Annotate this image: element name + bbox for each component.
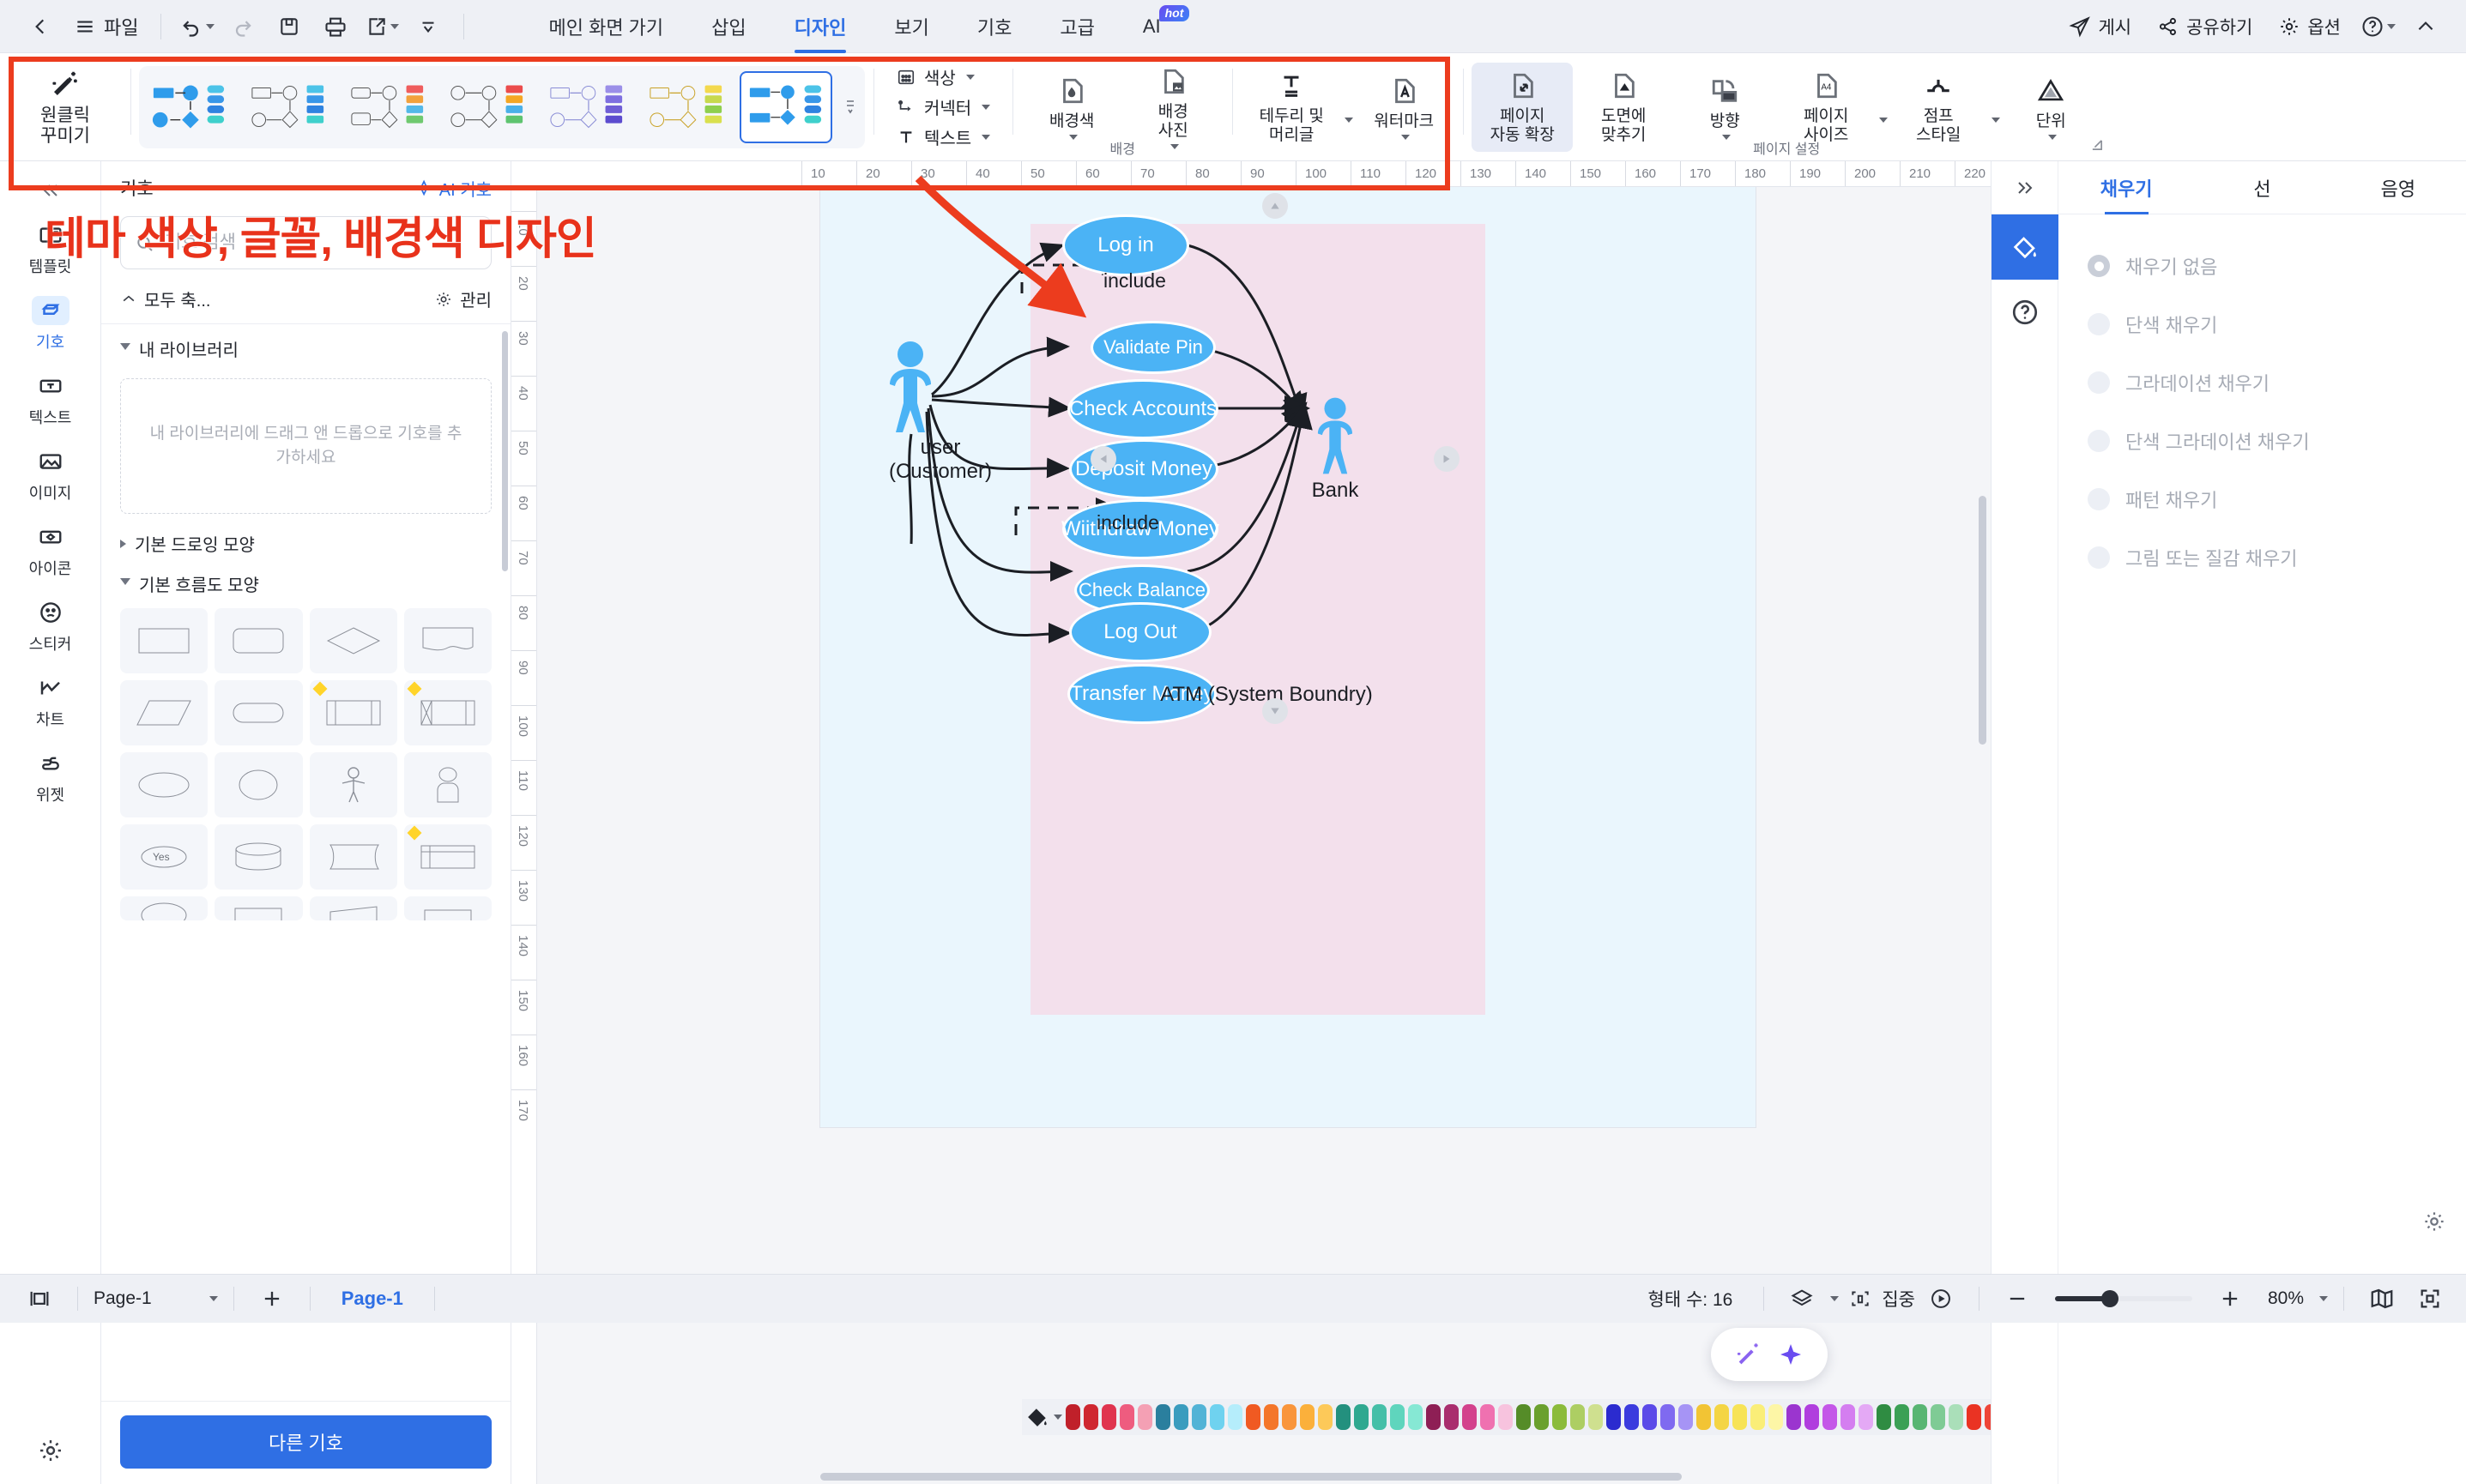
fill-option-label: 채우기 없음 bbox=[2125, 252, 2217, 280]
ruler-tick bbox=[1845, 161, 1846, 187]
shape-tape[interactable] bbox=[310, 824, 397, 890]
color-swatch-11[interactable] bbox=[1264, 1404, 1278, 1430]
header-footer-icon bbox=[1277, 69, 1306, 103]
ruler-tick bbox=[511, 650, 537, 651]
shape-person[interactable] bbox=[404, 752, 492, 817]
symbol-icon bbox=[32, 296, 70, 325]
layers-dropdown-caret[interactable] bbox=[1830, 1296, 1839, 1301]
page-setup-group-label: 페이지 설정 bbox=[1463, 137, 2110, 158]
fill-option-label: 단색 채우기 bbox=[2125, 311, 2217, 338]
tab-advanced[interactable]: 고급 bbox=[1036, 0, 1118, 53]
tab-ai[interactable]: AI hot bbox=[1119, 0, 1185, 53]
ribbon-group-style: 색상 커넥터 텍스트 bbox=[873, 53, 1012, 160]
more-icon[interactable] bbox=[407, 8, 450, 45]
canvas-hscrollbar[interactable] bbox=[820, 1473, 1682, 1481]
zoom-slider-knob[interactable] bbox=[2101, 1290, 2118, 1307]
color-swatch-6[interactable] bbox=[1174, 1404, 1188, 1430]
image-icon bbox=[32, 447, 70, 476]
color-swatch-13[interactable] bbox=[1300, 1404, 1315, 1430]
other-symbols-button[interactable]: 다른 기호 bbox=[120, 1415, 492, 1469]
theme-preview-2[interactable] bbox=[242, 71, 335, 143]
shape-database[interactable] bbox=[215, 824, 302, 890]
sidebar-item-label: 이미지 bbox=[29, 481, 72, 504]
ruler-tick-label: 70 bbox=[516, 551, 530, 565]
nav-right-icon[interactable] bbox=[1434, 446, 1460, 472]
color-swatches bbox=[1066, 1404, 1991, 1430]
sidebar-item-icons[interactable]: 아이콘 bbox=[11, 513, 90, 586]
shape-partial-3[interactable] bbox=[310, 896, 397, 920]
horizontal-ruler[interactable]: 1020304050607080901001101201301401501601… bbox=[511, 161, 1991, 187]
theme-preview-4[interactable] bbox=[441, 71, 534, 143]
ruler-tick-label: 210 bbox=[1909, 166, 1931, 181]
color-swatch-39[interactable] bbox=[1768, 1404, 1783, 1430]
ruler-tick bbox=[511, 540, 537, 541]
design-ribbon: 원클릭 꾸미기 bbox=[0, 53, 2466, 161]
zoom-dropdown-caret[interactable] bbox=[2319, 1296, 2328, 1301]
sidebar-item-symbols[interactable]: 기호 bbox=[11, 287, 90, 359]
magic-wand-icon bbox=[1734, 1340, 1763, 1369]
hot-badge: hot bbox=[1159, 5, 1190, 21]
usecase-log-in[interactable]: Log in bbox=[1062, 214, 1189, 276]
section-header[interactable]: 내 라이브러리 bbox=[120, 336, 492, 361]
dialog-launcher-icon[interactable] bbox=[2089, 137, 2105, 157]
unit-label: 단위 bbox=[2036, 112, 2066, 131]
connector-button[interactable]: 커넥터 bbox=[889, 94, 997, 121]
ai-symbol-button[interactable]: AI 기호 bbox=[415, 176, 492, 201]
export-icon[interactable] bbox=[360, 8, 403, 45]
divider bbox=[2343, 1287, 2344, 1311]
border-header-dropdown-caret[interactable] bbox=[1345, 118, 1353, 123]
radio-icon[interactable] bbox=[2088, 313, 2110, 335]
zoom-in-button[interactable] bbox=[2208, 1287, 2252, 1311]
color-swatch-14[interactable] bbox=[1318, 1404, 1333, 1430]
unit-icon bbox=[2036, 74, 2065, 108]
color-swatch-50[interactable] bbox=[1967, 1404, 1981, 1430]
section-basic-drawing: 기본 드로잉 모양 bbox=[101, 519, 511, 559]
text-icon bbox=[896, 128, 916, 147]
theme-preview-5[interactable] bbox=[541, 71, 633, 143]
shape-rounded-rectangle[interactable] bbox=[215, 608, 302, 673]
theme-preview-1[interactable] bbox=[142, 71, 235, 143]
color-swatch-3[interactable] bbox=[1120, 1404, 1134, 1430]
watermark-label: 워터마크 bbox=[1374, 112, 1434, 131]
theme-preview-6[interactable] bbox=[640, 71, 733, 143]
sidebar-item-label: 위젯 bbox=[36, 783, 64, 805]
sidebar-item-label: 아이콘 bbox=[29, 557, 72, 579]
zoom-value: 80% bbox=[2256, 1288, 2304, 1309]
color-swatch-8[interactable] bbox=[1210, 1404, 1224, 1430]
ruler-tick bbox=[511, 815, 537, 816]
color-swatch-40[interactable] bbox=[1786, 1404, 1801, 1430]
shape-predefined-process[interactable] bbox=[310, 680, 397, 745]
color-swatch-38[interactable] bbox=[1750, 1404, 1765, 1430]
include-label-2: include bbox=[1097, 511, 1159, 534]
collapse-right-icon[interactable] bbox=[1992, 161, 2058, 214]
section-header[interactable]: 기본 흐름도 모양 bbox=[120, 571, 492, 596]
color-swatch-0[interactable] bbox=[1066, 1404, 1080, 1430]
ruler-tick-label: 180 bbox=[1744, 166, 1766, 181]
radio-icon[interactable] bbox=[2088, 255, 2110, 277]
palette-icon bbox=[896, 68, 916, 87]
shape-parallelogram[interactable] bbox=[120, 680, 208, 745]
tab-home[interactable]: 메인 화면 가기 bbox=[524, 0, 687, 53]
color-dropdown-caret[interactable] bbox=[966, 75, 975, 80]
help-icon[interactable] bbox=[2356, 8, 2399, 45]
color-swatch-34[interactable] bbox=[1678, 1404, 1693, 1430]
ruler-tick-label: 100 bbox=[1305, 166, 1327, 181]
usecase-label: Log in bbox=[1097, 233, 1153, 257]
library-dropzone[interactable]: 내 라이브러리에 드래그 앤 드롭으로 기호를 추가하세요 bbox=[120, 378, 492, 514]
fill-option-pattern[interactable]: 패턴 채우기 bbox=[2088, 470, 2466, 528]
ribbon-tabs: 메인 화면 가기 삽입 디자인 보기 기호 고급 AI hot bbox=[524, 0, 1184, 53]
ruler-tick-label: 100 bbox=[516, 715, 530, 737]
focus-label[interactable]: 집중 bbox=[1882, 1286, 1915, 1312]
color-swatch-10[interactable] bbox=[1246, 1404, 1260, 1430]
usecase-validate-pin[interactable]: Validate Pin bbox=[1091, 321, 1216, 374]
more-themes-icon[interactable] bbox=[839, 94, 861, 120]
color-swatch-47[interactable] bbox=[1913, 1404, 1927, 1430]
ruler-tick-label: 30 bbox=[921, 166, 935, 181]
ruler-tick bbox=[1680, 161, 1681, 187]
color-swatch-15[interactable] bbox=[1336, 1404, 1351, 1430]
sidebar-item-sticker[interactable]: 스티커 bbox=[11, 588, 90, 661]
share-button[interactable]: 공유하기 bbox=[2147, 8, 2263, 45]
shape-partial-4[interactable] bbox=[404, 896, 492, 920]
color-swatch-7[interactable] bbox=[1192, 1404, 1206, 1430]
shape-partial-1[interactable] bbox=[120, 896, 208, 920]
file-menu-button[interactable]: 파일 bbox=[65, 8, 147, 45]
ruler-tick bbox=[1625, 161, 1626, 187]
color-swatch-36[interactable] bbox=[1714, 1404, 1729, 1430]
theme-preview-7[interactable] bbox=[740, 71, 832, 143]
color-swatch-25[interactable] bbox=[1516, 1404, 1531, 1430]
gear-icon[interactable] bbox=[37, 1437, 64, 1469]
save-icon[interactable] bbox=[268, 8, 311, 45]
panel-scroll-area: 내 라이브러리 내 라이브러리에 드래그 앤 드롭으로 기호를 추가하세요 기본… bbox=[101, 323, 511, 1401]
sidebar-item-label: 텍스트 bbox=[29, 406, 72, 428]
play-icon[interactable] bbox=[1919, 1287, 1963, 1311]
ruler-tick bbox=[1790, 161, 1791, 187]
help-icon[interactable] bbox=[1992, 280, 2058, 345]
color-swatch-48[interactable] bbox=[1931, 1404, 1945, 1430]
shape-yes-oval[interactable]: Yes bbox=[120, 824, 208, 890]
shape-partial-2[interactable] bbox=[215, 896, 302, 920]
section-header[interactable]: 기본 드로잉 모양 bbox=[120, 531, 492, 556]
chevron-down-icon[interactable] bbox=[209, 1296, 218, 1301]
shape-diamond[interactable] bbox=[310, 608, 397, 673]
fit-screen-icon[interactable] bbox=[2408, 1287, 2452, 1311]
text-button[interactable]: 텍스트 bbox=[889, 124, 997, 151]
color-swatch-29[interactable] bbox=[1588, 1404, 1603, 1430]
ruler-tick-label: 30 bbox=[516, 331, 530, 346]
color-swatch-5[interactable] bbox=[1156, 1404, 1170, 1430]
chart-icon bbox=[32, 673, 70, 703]
ruler-tick-label: 10 bbox=[811, 166, 825, 181]
color-swatch-33[interactable] bbox=[1660, 1404, 1675, 1430]
style-stack: 색상 커넥터 텍스트 bbox=[882, 63, 1004, 151]
sidebar-item-chart[interactable]: 차트 bbox=[11, 664, 90, 737]
shape-ellipse[interactable] bbox=[120, 752, 208, 817]
nav-up-icon[interactable] bbox=[1262, 193, 1288, 219]
tab-shadow[interactable]: 음영 bbox=[2330, 161, 2466, 214]
user-actor-label: user (Customer) bbox=[863, 436, 1018, 483]
watermark-dropdown-caret[interactable] bbox=[1401, 135, 1410, 140]
export-dropdown-caret[interactable] bbox=[390, 24, 399, 29]
collapse-all-button[interactable]: 모두 축... bbox=[120, 287, 210, 311]
color-swatch-27[interactable] bbox=[1552, 1404, 1567, 1430]
usecase-log-out[interactable]: Log Out bbox=[1069, 602, 1212, 662]
chevron-down-icon bbox=[120, 343, 130, 354]
ruler-tick-label: 60 bbox=[516, 496, 530, 510]
section-basic-flowchart: 기본 흐름도 모양 bbox=[101, 559, 511, 600]
color-button[interactable]: 색상 bbox=[889, 63, 997, 91]
tab-design[interactable]: 디자인 bbox=[771, 0, 871, 53]
fill-option-picture-texture[interactable]: 그림 또는 질감 채우기 bbox=[2088, 528, 2466, 587]
page-layout-icon[interactable] bbox=[17, 1287, 62, 1311]
radio-icon[interactable] bbox=[2088, 371, 2110, 394]
ruler-tick-label: 130 bbox=[516, 880, 530, 902]
sparkle-icon bbox=[1777, 1341, 1804, 1368]
color-swatch-30[interactable] bbox=[1606, 1404, 1621, 1430]
ruler-tick bbox=[1351, 161, 1351, 187]
fill-dropdown-caret[interactable] bbox=[1054, 1415, 1062, 1420]
shape-document[interactable] bbox=[404, 608, 492, 673]
publish-label: 게시 bbox=[2098, 14, 2131, 39]
options-button[interactable]: 옵션 bbox=[2268, 8, 2351, 45]
color-swatch-37[interactable] bbox=[1732, 1404, 1747, 1430]
include-label-1: include bbox=[1103, 269, 1166, 293]
gear-icon bbox=[2278, 15, 2300, 38]
divider bbox=[1979, 1287, 1979, 1311]
background-group-label: 배경 bbox=[1012, 137, 1232, 158]
shape-grid: Yes bbox=[101, 600, 511, 920]
layers-icon[interactable] bbox=[1780, 1287, 1824, 1311]
tab-label: 고급 bbox=[1060, 13, 1094, 40]
format-tabs: 채우기 선 음영 bbox=[2058, 161, 2466, 214]
color-swatch-32[interactable] bbox=[1642, 1404, 1657, 1430]
ruler-tick bbox=[1900, 161, 1901, 187]
shape-table[interactable] bbox=[404, 824, 492, 890]
page-size-icon: A4 bbox=[1811, 69, 1840, 103]
add-page-button[interactable] bbox=[250, 1287, 294, 1311]
tab-label: 디자인 bbox=[795, 13, 847, 40]
ruler-tick bbox=[966, 161, 967, 187]
color-swatch-43[interactable] bbox=[1840, 1404, 1855, 1430]
fill-bucket-icon[interactable] bbox=[1992, 214, 2058, 280]
back-icon[interactable] bbox=[19, 8, 62, 45]
shape-rectangle[interactable] bbox=[120, 608, 208, 673]
radio-icon[interactable] bbox=[2088, 430, 2110, 452]
color-swatch-28[interactable] bbox=[1570, 1404, 1585, 1430]
divider bbox=[310, 1287, 311, 1311]
fill-option-gradient[interactable]: 그라데이션 채우기 bbox=[2088, 353, 2466, 412]
focus-frame-icon[interactable] bbox=[1842, 1288, 1878, 1310]
bg-color-icon bbox=[1057, 74, 1086, 108]
border-header-label: 테두리 및 머리글 bbox=[1260, 107, 1324, 144]
color-swatch-22[interactable] bbox=[1462, 1404, 1477, 1430]
panel-title: 기호 bbox=[120, 175, 154, 201]
ruler-tick-label: 190 bbox=[1799, 166, 1821, 181]
divider bbox=[463, 14, 464, 39]
send-icon bbox=[2069, 15, 2091, 38]
ruler-tick bbox=[1296, 161, 1296, 187]
tab-label: 보기 bbox=[894, 13, 928, 40]
ruler-tick-label: 160 bbox=[1635, 166, 1656, 181]
color-swatch-41[interactable] bbox=[1804, 1404, 1819, 1430]
bank-actor[interactable] bbox=[1308, 396, 1363, 480]
annotation-text: 테마 색상, 글꼴, 배경색 디자인 bbox=[45, 202, 596, 267]
map-icon[interactable] bbox=[2360, 1286, 2404, 1312]
color-swatch-24[interactable] bbox=[1498, 1404, 1513, 1430]
usecase-check-accounts[interactable]: Check Accounts bbox=[1067, 379, 1218, 439]
ruler-tick-label: 40 bbox=[976, 166, 990, 181]
fill-bucket-icon[interactable] bbox=[1025, 1405, 1062, 1429]
print-icon[interactable] bbox=[314, 8, 357, 45]
theme-preview-3[interactable] bbox=[341, 71, 434, 143]
ruler-tick-label: 90 bbox=[1250, 166, 1265, 181]
sidebar-item-label: 차트 bbox=[36, 708, 64, 730]
fill-option-none[interactable]: 채우기 없음 bbox=[2088, 237, 2466, 295]
color-swatch-44[interactable] bbox=[1859, 1404, 1873, 1430]
jump-style-dropdown-caret[interactable] bbox=[1992, 118, 2000, 123]
sidebar-item-text[interactable]: 텍스트 bbox=[11, 362, 90, 435]
color-palette-strip bbox=[1022, 1399, 1991, 1435]
ruler-tick-label: 20 bbox=[866, 166, 880, 181]
color-swatch-12[interactable] bbox=[1282, 1404, 1296, 1430]
color-swatch-17[interactable] bbox=[1372, 1404, 1387, 1430]
color-swatch-1[interactable] bbox=[1084, 1404, 1098, 1430]
jump-style-icon bbox=[1924, 69, 1953, 103]
connector-dropdown-caret[interactable] bbox=[982, 105, 990, 110]
user-actor[interactable] bbox=[879, 340, 942, 438]
orientation-label: 방향 bbox=[1710, 112, 1740, 131]
publish-button[interactable]: 게시 bbox=[2058, 8, 2142, 45]
ruler-tick bbox=[511, 980, 537, 980]
color-swatch-20[interactable] bbox=[1426, 1404, 1441, 1430]
fit-to-drawing-icon bbox=[1609, 69, 1638, 103]
color-swatch-26[interactable] bbox=[1534, 1404, 1549, 1430]
top-toolbar: 파일 메인 화면 가기 삽입 디자인 보기 기호 고급 bbox=[0, 0, 2466, 53]
tab-insert[interactable]: 삽입 bbox=[687, 0, 770, 53]
panel-scrollbar[interactable] bbox=[502, 331, 508, 571]
ruler-tick bbox=[511, 1035, 537, 1035]
color-swatch-18[interactable] bbox=[1390, 1404, 1405, 1430]
color-swatch-2[interactable] bbox=[1102, 1404, 1116, 1430]
ruler-tick bbox=[1460, 161, 1461, 187]
share-icon bbox=[2157, 15, 2179, 38]
undo-icon[interactable] bbox=[175, 8, 218, 45]
shape-internal-storage[interactable] bbox=[404, 680, 492, 745]
color-swatch-42[interactable] bbox=[1822, 1404, 1837, 1430]
drawing-page[interactable]: user (Customer) Bank Log in Validate Pin… bbox=[820, 187, 1756, 1127]
color-swatch-49[interactable] bbox=[1949, 1404, 1963, 1430]
page-select[interactable]: Page-1 bbox=[94, 1288, 218, 1309]
color-swatch-31[interactable] bbox=[1624, 1404, 1639, 1430]
color-swatch-23[interactable] bbox=[1480, 1404, 1495, 1430]
svg-text:Yes: Yes bbox=[153, 851, 170, 863]
radio-icon[interactable] bbox=[2088, 488, 2110, 510]
format-panel-header: 채우기 선 음영 bbox=[1992, 161, 2466, 214]
tab-view[interactable]: 보기 bbox=[870, 0, 952, 53]
ruler-tick-label: 170 bbox=[516, 1100, 530, 1121]
border-header-button[interactable]: 테두리 및 머리글 bbox=[1241, 63, 1342, 152]
tab-fill[interactable]: 채우기 bbox=[2058, 161, 2194, 214]
usecase-deposit-money[interactable]: Deposit Money bbox=[1069, 439, 1218, 499]
tab-label: 기호 bbox=[977, 13, 1012, 40]
color-swatch-45[interactable] bbox=[1877, 1404, 1891, 1430]
tab-label: 채우기 bbox=[2100, 174, 2153, 202]
radio-icon[interactable] bbox=[2088, 546, 2110, 569]
color-swatch-51[interactable] bbox=[1985, 1404, 1991, 1430]
sidebar-item-widget[interactable]: 위젯 bbox=[11, 739, 90, 812]
panel-tools: 모두 축... 관리 bbox=[101, 269, 511, 323]
usecase-label: Log Out bbox=[1103, 620, 1176, 644]
tab-label: AI bbox=[1143, 15, 1161, 38]
shape-circle[interactable] bbox=[215, 752, 302, 817]
color-swatch-9[interactable] bbox=[1228, 1404, 1242, 1430]
zoom-out-button[interactable] bbox=[1995, 1287, 2040, 1311]
watermark-button[interactable]: 워터마크 bbox=[1353, 63, 1454, 152]
color-swatch-21[interactable] bbox=[1444, 1404, 1459, 1430]
text-dropdown-caret[interactable] bbox=[982, 135, 990, 140]
tab-label: 음영 bbox=[2381, 174, 2415, 202]
page-tab-active[interactable]: Page-1 bbox=[326, 1288, 419, 1310]
zoom-slider[interactable] bbox=[2055, 1296, 2192, 1301]
ruler-tick-label: 110 bbox=[516, 770, 530, 791]
ruler-tick-label: 90 bbox=[516, 661, 530, 675]
chevron-down-icon bbox=[120, 578, 130, 589]
fill-option-label: 단색 그라데이션 채우기 bbox=[2125, 427, 2310, 455]
nav-left-icon[interactable] bbox=[1091, 446, 1116, 472]
ruler-tick-label: 70 bbox=[1140, 166, 1155, 181]
redo-icon[interactable] bbox=[221, 8, 264, 45]
fill-option-solid-gradient[interactable]: 단색 그라데이션 채우기 bbox=[2088, 412, 2466, 470]
fill-option-solid[interactable]: 단색 채우기 bbox=[2088, 295, 2466, 353]
background-color-label: 배경색 bbox=[1049, 112, 1094, 131]
undo-dropdown-caret[interactable] bbox=[206, 24, 215, 29]
color-swatch-4[interactable] bbox=[1138, 1404, 1152, 1430]
status-bar-left: Page-1 Page-1 bbox=[0, 1287, 447, 1311]
ruler-tick-label: 120 bbox=[516, 825, 530, 847]
help-dropdown-caret[interactable] bbox=[2387, 24, 2396, 29]
tab-line[interactable]: 선 bbox=[2194, 161, 2330, 214]
ruler-tick bbox=[1131, 161, 1132, 187]
top-toolbar-right: 게시 공유하기 옵션 bbox=[2058, 8, 2447, 45]
ruler-tick bbox=[511, 486, 537, 486]
canvas-vscrollbar[interactable] bbox=[1979, 496, 1986, 745]
gear-icon[interactable] bbox=[2421, 1209, 2447, 1239]
color-swatch-46[interactable] bbox=[1895, 1404, 1909, 1430]
section-label: 기본 드로잉 모양 bbox=[135, 531, 255, 556]
nav-down-icon[interactable] bbox=[1262, 698, 1288, 724]
oneclick-beautify-button[interactable]: 원클릭 꾸미기 bbox=[9, 63, 122, 152]
color-swatch-35[interactable] bbox=[1696, 1404, 1711, 1430]
sidebar-item-image[interactable]: 이미지 bbox=[11, 437, 90, 510]
ai-assistant-fab[interactable] bbox=[1711, 1328, 1828, 1381]
manage-button[interactable]: 관리 bbox=[434, 287, 492, 311]
ruler-tick bbox=[511, 870, 537, 871]
panel-footer: 다른 기호 bbox=[101, 1401, 511, 1484]
tab-symbols[interactable]: 기호 bbox=[953, 0, 1036, 53]
ruler-tick-label: 60 bbox=[1085, 166, 1100, 181]
color-swatch-16[interactable] bbox=[1354, 1404, 1369, 1430]
shape-actor[interactable] bbox=[310, 752, 397, 817]
ruler-tick bbox=[511, 376, 537, 377]
collapse-ribbon-icon[interactable] bbox=[2404, 8, 2447, 45]
shape-stadium[interactable] bbox=[215, 680, 302, 745]
color-swatch-19[interactable] bbox=[1408, 1404, 1423, 1430]
page-size-dropdown-caret[interactable] bbox=[1879, 118, 1888, 123]
